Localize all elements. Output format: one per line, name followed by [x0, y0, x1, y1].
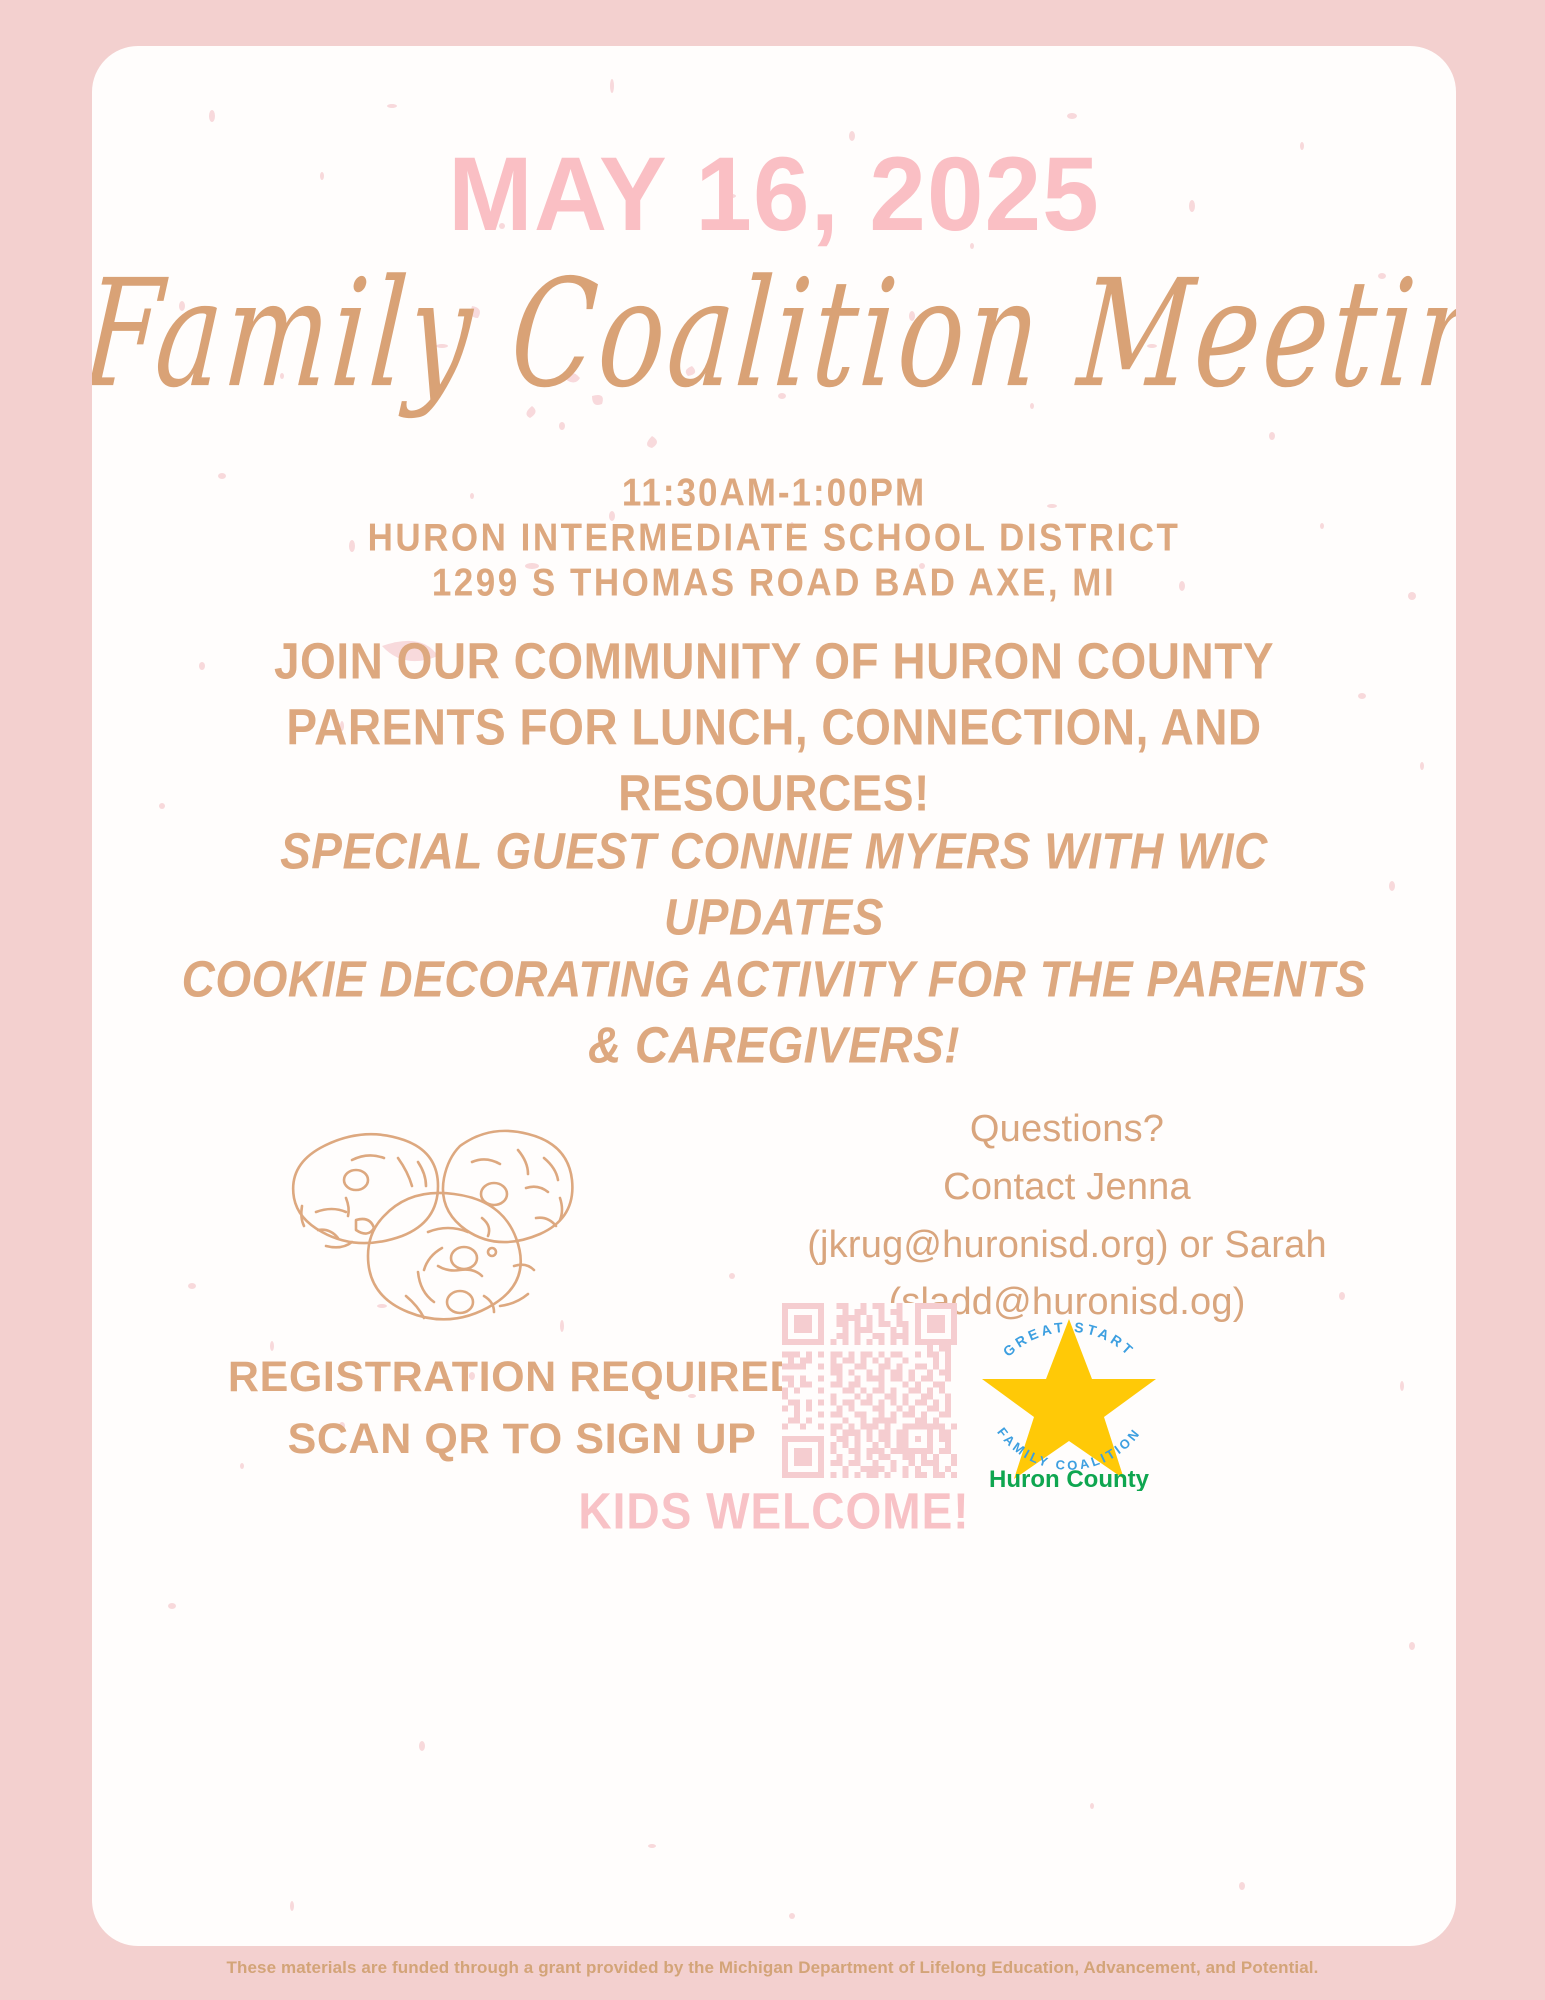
event-details: 11:30AM-1:00PM HURON INTERMEDIATE SCHOOL… — [92, 471, 1456, 605]
event-description: JOIN OUR COMMUNITY OF HURON COUNTY PAREN… — [170, 638, 1378, 1073]
contact-heading: Questions? — [782, 1101, 1352, 1159]
event-venue: HURON INTERMEDIATE SCHOOL DISTRICT — [92, 513, 1456, 563]
invitation-text: JOIN OUR COMMUNITY OF HURON COUNTY PAREN… — [170, 629, 1378, 826]
great-start-logo: GREAT START FAMILY COALITION Huron Count… — [964, 1291, 1174, 1491]
event-time: 11:30AM-1:00PM — [92, 468, 1456, 518]
activity-text: COOKIE DECORATING ACTIVITY FOR THE PAREN… — [170, 947, 1378, 1079]
kids-welcome-text: KIDS WELCOME! — [92, 1481, 1456, 1540]
grant-disclaimer: These materials are funded through a gra… — [0, 1958, 1545, 1978]
cookies-illustration — [278, 1106, 598, 1326]
registration-required-text: REGISTRATION REQUIRED! — [222, 1346, 822, 1408]
page-title-date: MAY 16, 2025 — [92, 142, 1456, 247]
contact-line-1: Contact Jenna — [782, 1159, 1352, 1217]
flyer-card: MAY 16, 2025 Family Coalition Meeting 11… — [92, 46, 1456, 1946]
registration-block: REGISTRATION REQUIRED! SCAN QR TO SIGN U… — [222, 1346, 822, 1471]
event-address: 1299 S THOMAS ROAD BAD AXE, MI — [92, 558, 1456, 608]
flyer-page: MAY 16, 2025 Family Coalition Meeting 11… — [0, 0, 1545, 2000]
scan-qr-text: SCAN QR TO SIGN UP — [222, 1408, 822, 1470]
script-title: Family Coalition Meeting — [92, 242, 1456, 428]
special-guest-text: SPECIAL GUEST CONNIE MYERS WITH WIC UPDA… — [170, 819, 1378, 951]
contact-line-2: (jkrug@huronisd.org) or Sarah — [782, 1217, 1352, 1275]
qr-code[interactable] — [782, 1303, 957, 1478]
